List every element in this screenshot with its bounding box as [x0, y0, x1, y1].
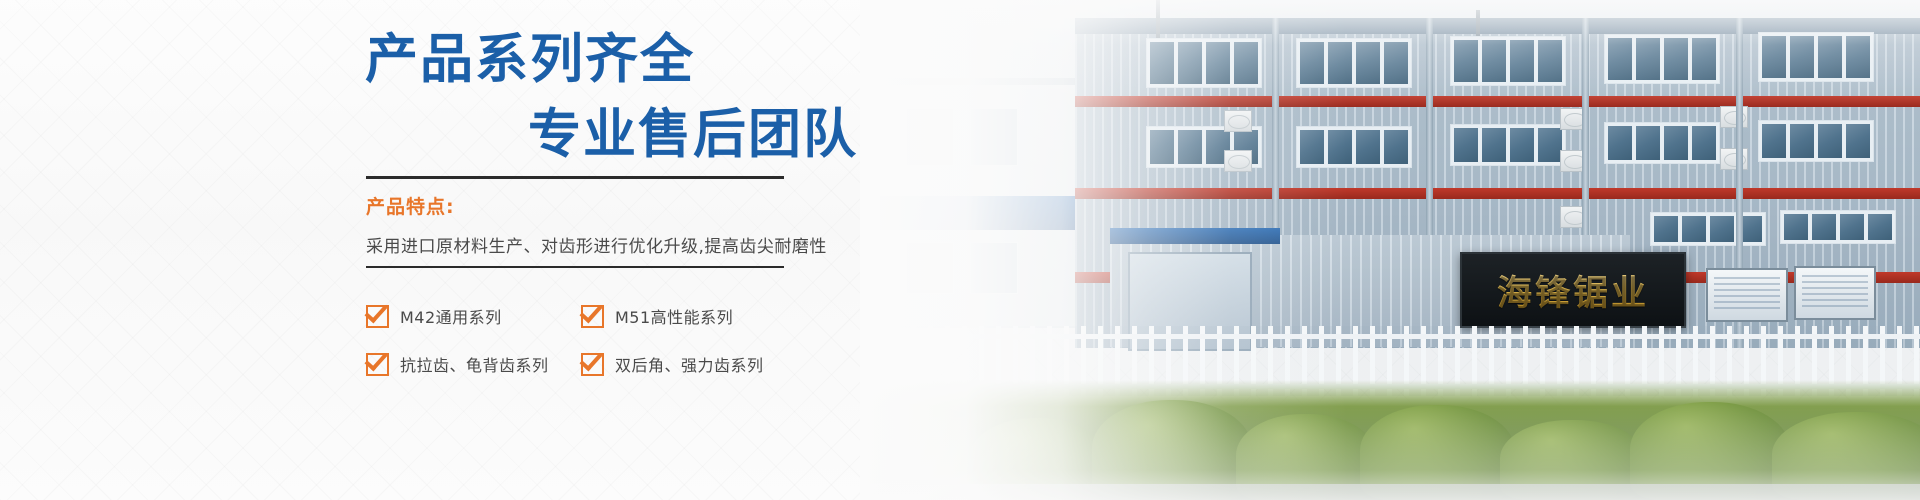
- feature-label: 产品特点:: [366, 192, 455, 219]
- feature-item-label: M42通用系列: [400, 304, 502, 328]
- checkbox-checked-icon: [366, 305, 389, 328]
- banner-content: 产品系列齐全 专业售后团队 产品特点: 采用进口原材料生产、对齿形进行优化升级,…: [0, 0, 860, 500]
- feature-item[interactable]: M42通用系列: [366, 292, 581, 340]
- feature-item[interactable]: 双后角、强力齿系列: [581, 340, 796, 388]
- feature-item-label: 双后角、强力齿系列: [615, 352, 764, 376]
- checkbox-checked-icon: [581, 305, 604, 328]
- feature-description: 采用进口原材料生产、对齿形进行优化升级,提高齿尖耐磨性: [366, 232, 827, 257]
- factory-photo: 海锋锯业: [860, 0, 1920, 500]
- photo-vertical-fade-mask: [860, 0, 1920, 500]
- headline-divider: [366, 176, 784, 179]
- checkbox-checked-icon: [366, 353, 389, 376]
- promo-banner: 海锋锯业: [0, 0, 1920, 500]
- headline-line-1: 产品系列齐全: [365, 33, 695, 86]
- checkbox-checked-icon: [581, 353, 604, 376]
- feature-item-label: M51高性能系列: [615, 304, 733, 328]
- headline-line-2: 专业售后团队: [528, 108, 858, 161]
- feature-list: M42通用系列 M51高性能系列 抗拉齿、龟背齿系列 双后角、强力齿系列: [366, 292, 796, 388]
- feature-item[interactable]: 抗拉齿、龟背齿系列: [366, 340, 581, 388]
- feature-item[interactable]: M51高性能系列: [581, 292, 796, 340]
- feature-divider: [366, 266, 784, 268]
- feature-item-label: 抗拉齿、龟背齿系列: [400, 352, 549, 376]
